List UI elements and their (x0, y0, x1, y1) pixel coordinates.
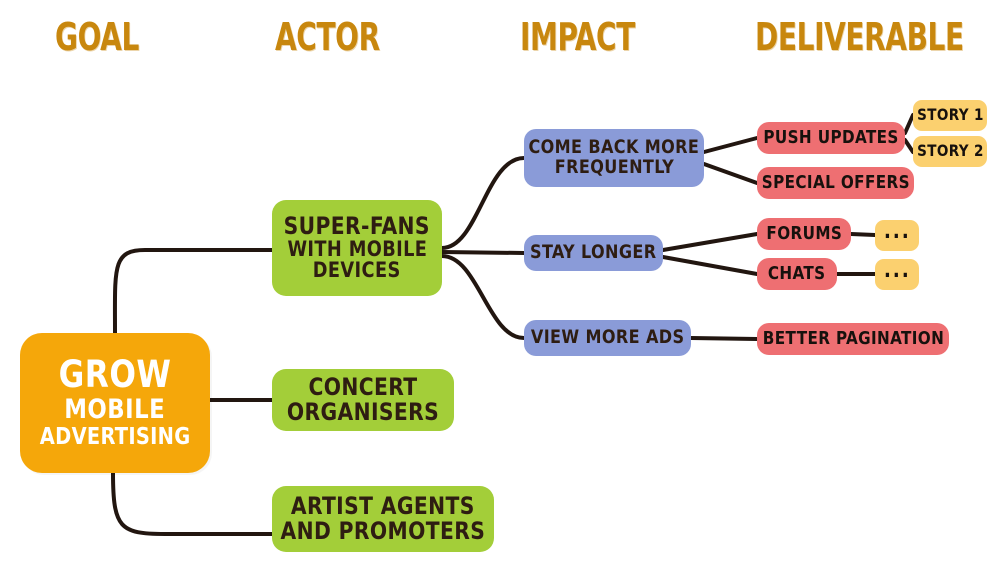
deliverable-label: BETTER PAGINATION (762, 330, 943, 349)
ellipsis-label: ... (884, 221, 911, 244)
ellipsis-label: ... (884, 260, 911, 283)
actor-node-concert-organisers[interactable]: CONCERT ORGANISERS (272, 369, 454, 431)
story-node-story-2[interactable]: STORY 2 (913, 136, 987, 167)
connector-come-back-to-push-updates (704, 138, 757, 152)
impact-node-come-back-more-frequently[interactable]: COME BACK MORE FREQUENTLY (524, 129, 704, 187)
story-node-chats-more[interactable]: ... (875, 259, 919, 290)
connector-forums-to-forums-more (851, 234, 875, 235)
connector-goal-to-super-fans (115, 250, 272, 333)
connector-layer (0, 0, 1000, 581)
actor-line-2: AND PROMOTERS (281, 519, 486, 544)
connector-push-updates-to-story-2 (905, 140, 913, 152)
story-label: STORY 2 (917, 143, 984, 160)
actor-line-3: DEVICES (313, 260, 401, 282)
impact-map-canvas: GOAL ACTOR IMPACT DELIVERABLE GROW MOBIL… (0, 0, 1000, 581)
connector-stay-longer-to-forums (663, 234, 757, 250)
impact-node-stay-longer[interactable]: STAY LONGER (524, 235, 663, 271)
connector-view-ads-to-better-pagination (691, 338, 757, 339)
goal-line-2: MOBILE (64, 396, 165, 424)
impact-node-view-more-ads[interactable]: VIEW MORE ADS (524, 320, 691, 356)
connector-goal-to-artist-agents (113, 473, 272, 534)
actor-line-1: SUPER-FANS (284, 214, 430, 239)
deliverable-label: CHATS (768, 265, 826, 284)
column-header-impact: IMPACT (520, 18, 635, 56)
deliverable-node-better-pagination[interactable]: BETTER PAGINATION (757, 323, 949, 355)
goal-node-grow-mobile-advertising[interactable]: GROW MOBILE ADVERTISING (20, 333, 210, 473)
actor-node-super-fans[interactable]: SUPER-FANS WITH MOBILE DEVICES (272, 200, 442, 296)
actor-line-1: ARTIST AGENTS (291, 494, 475, 519)
actor-line-1: CONCERT (308, 375, 417, 400)
deliverable-node-push-updates[interactable]: PUSH UPDATES (757, 122, 905, 154)
column-header-goal: GOAL (55, 18, 139, 56)
goal-line-1: GROW (59, 356, 172, 394)
actor-line-2: ORGANISERS (287, 400, 439, 425)
story-label: STORY 1 (917, 107, 984, 124)
deliverable-node-special-offers[interactable]: SPECIAL OFFERS (757, 167, 914, 199)
impact-line-2: FREQUENTLY (554, 158, 673, 178)
connector-come-back-to-special-offers (704, 164, 757, 183)
connector-super-fans-to-view-ads (442, 256, 524, 338)
deliverable-label: SPECIAL OFFERS (761, 174, 909, 193)
deliverable-label: FORUMS (766, 225, 842, 244)
deliverable-label: PUSH UPDATES (763, 129, 898, 148)
connector-push-updates-to-story-1 (905, 115, 913, 133)
connector-stay-longer-to-chats (663, 257, 757, 274)
story-node-story-1[interactable]: STORY 1 (913, 100, 987, 131)
column-header-actor: ACTOR (275, 18, 380, 56)
connector-super-fans-to-come-back (442, 158, 524, 248)
actor-line-2: WITH MOBILE (287, 239, 427, 261)
goal-line-3: ADVERTISING (40, 426, 191, 450)
deliverable-node-chats[interactable]: CHATS (757, 258, 837, 290)
impact-line-1: VIEW MORE ADS (531, 328, 685, 348)
impact-line-1: STAY LONGER (530, 243, 656, 263)
connector-super-fans-to-stay-longer (442, 252, 524, 253)
deliverable-node-forums[interactable]: FORUMS (757, 218, 851, 250)
actor-node-artist-agents[interactable]: ARTIST AGENTS AND PROMOTERS (272, 486, 494, 552)
column-header-deliverable: DELIVERABLE (755, 18, 964, 56)
story-node-forums-more[interactable]: ... (875, 220, 919, 251)
